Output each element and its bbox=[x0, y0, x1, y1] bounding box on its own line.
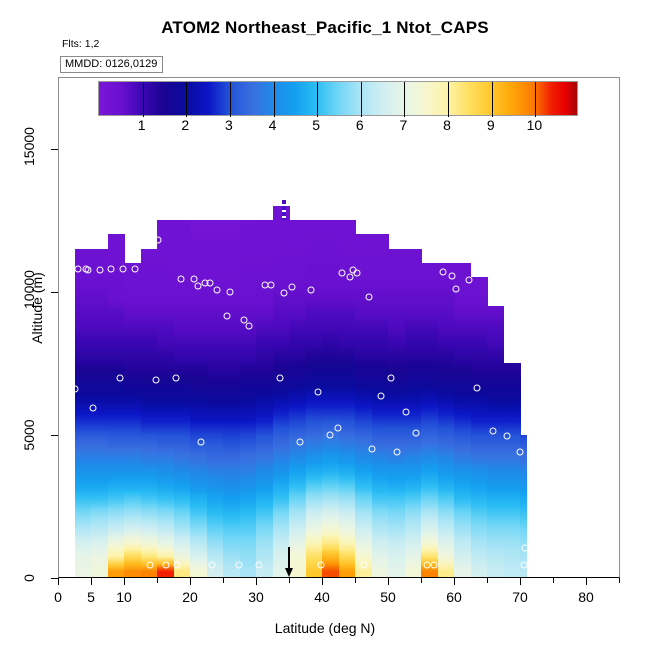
x-axis-tick bbox=[124, 578, 125, 585]
x-axis-minor-tick bbox=[421, 578, 422, 583]
y-axis-tick-label: 15000 bbox=[21, 132, 37, 166]
y-axis-tick bbox=[51, 149, 58, 150]
y-axis-tick-label: 5000 bbox=[21, 418, 37, 452]
chart-title: ATOM2 Northeast_Pacific_1 Ntot_CAPS bbox=[0, 18, 650, 38]
x-axis-tick-label: 50 bbox=[380, 589, 396, 605]
x-axis-tick-label: 80 bbox=[578, 589, 594, 605]
x-axis-tick bbox=[520, 578, 521, 585]
x-axis-tick-label: 5 bbox=[87, 589, 95, 605]
x-axis-minor-tick bbox=[355, 578, 356, 583]
y-axis-tick-label: 0 bbox=[21, 561, 37, 595]
x-axis-tick-label: 0 bbox=[54, 589, 62, 605]
x-axis-tick-label: 70 bbox=[512, 589, 528, 605]
x-axis-label: Latitude (deg N) bbox=[0, 620, 650, 636]
x-axis-minor-tick bbox=[289, 578, 290, 583]
mmdd-annotation-box: MMDD: 0126,0129 bbox=[60, 56, 163, 73]
x-axis-tick-label: 30 bbox=[248, 589, 264, 605]
x-axis-tick bbox=[91, 578, 92, 585]
y-axis-tick bbox=[51, 435, 58, 436]
y-axis-tick bbox=[51, 578, 58, 579]
y-axis-label-holder: Altitude (m) bbox=[0, 300, 157, 318]
x-axis-tick-label: 20 bbox=[182, 589, 198, 605]
y-axis-label: Altitude (m) bbox=[29, 272, 45, 344]
x-axis-tick-label: 60 bbox=[446, 589, 462, 605]
x-axis-minor-tick bbox=[553, 578, 554, 583]
x-axis-tick bbox=[58, 578, 59, 585]
x-axis-tick bbox=[322, 578, 323, 585]
latitude-arrow-marker bbox=[285, 547, 294, 578]
x-axis-tick bbox=[586, 578, 587, 585]
x-axis-minor-tick bbox=[157, 578, 158, 583]
mmdd-annotation-text: MMDD: 0126,0129 bbox=[65, 59, 157, 70]
x-axis-tick bbox=[190, 578, 191, 585]
x-axis-tick-label: 40 bbox=[314, 589, 330, 605]
x-axis-minor-tick bbox=[223, 578, 224, 583]
x-axis-tick bbox=[454, 578, 455, 585]
flights-annotation: Flts: 1,2 bbox=[62, 38, 99, 50]
x-axis-tick bbox=[388, 578, 389, 585]
x-axis-minor-tick bbox=[619, 578, 620, 583]
y-axis-tick bbox=[51, 292, 58, 293]
x-axis-minor-tick bbox=[487, 578, 488, 583]
x-axis-tick bbox=[256, 578, 257, 585]
plot-frame bbox=[58, 77, 620, 578]
x-axis-tick-label: 10 bbox=[116, 589, 132, 605]
figure-root: ATOM2 Northeast_Pacific_1 Ntot_CAPS Flts… bbox=[0, 0, 650, 650]
